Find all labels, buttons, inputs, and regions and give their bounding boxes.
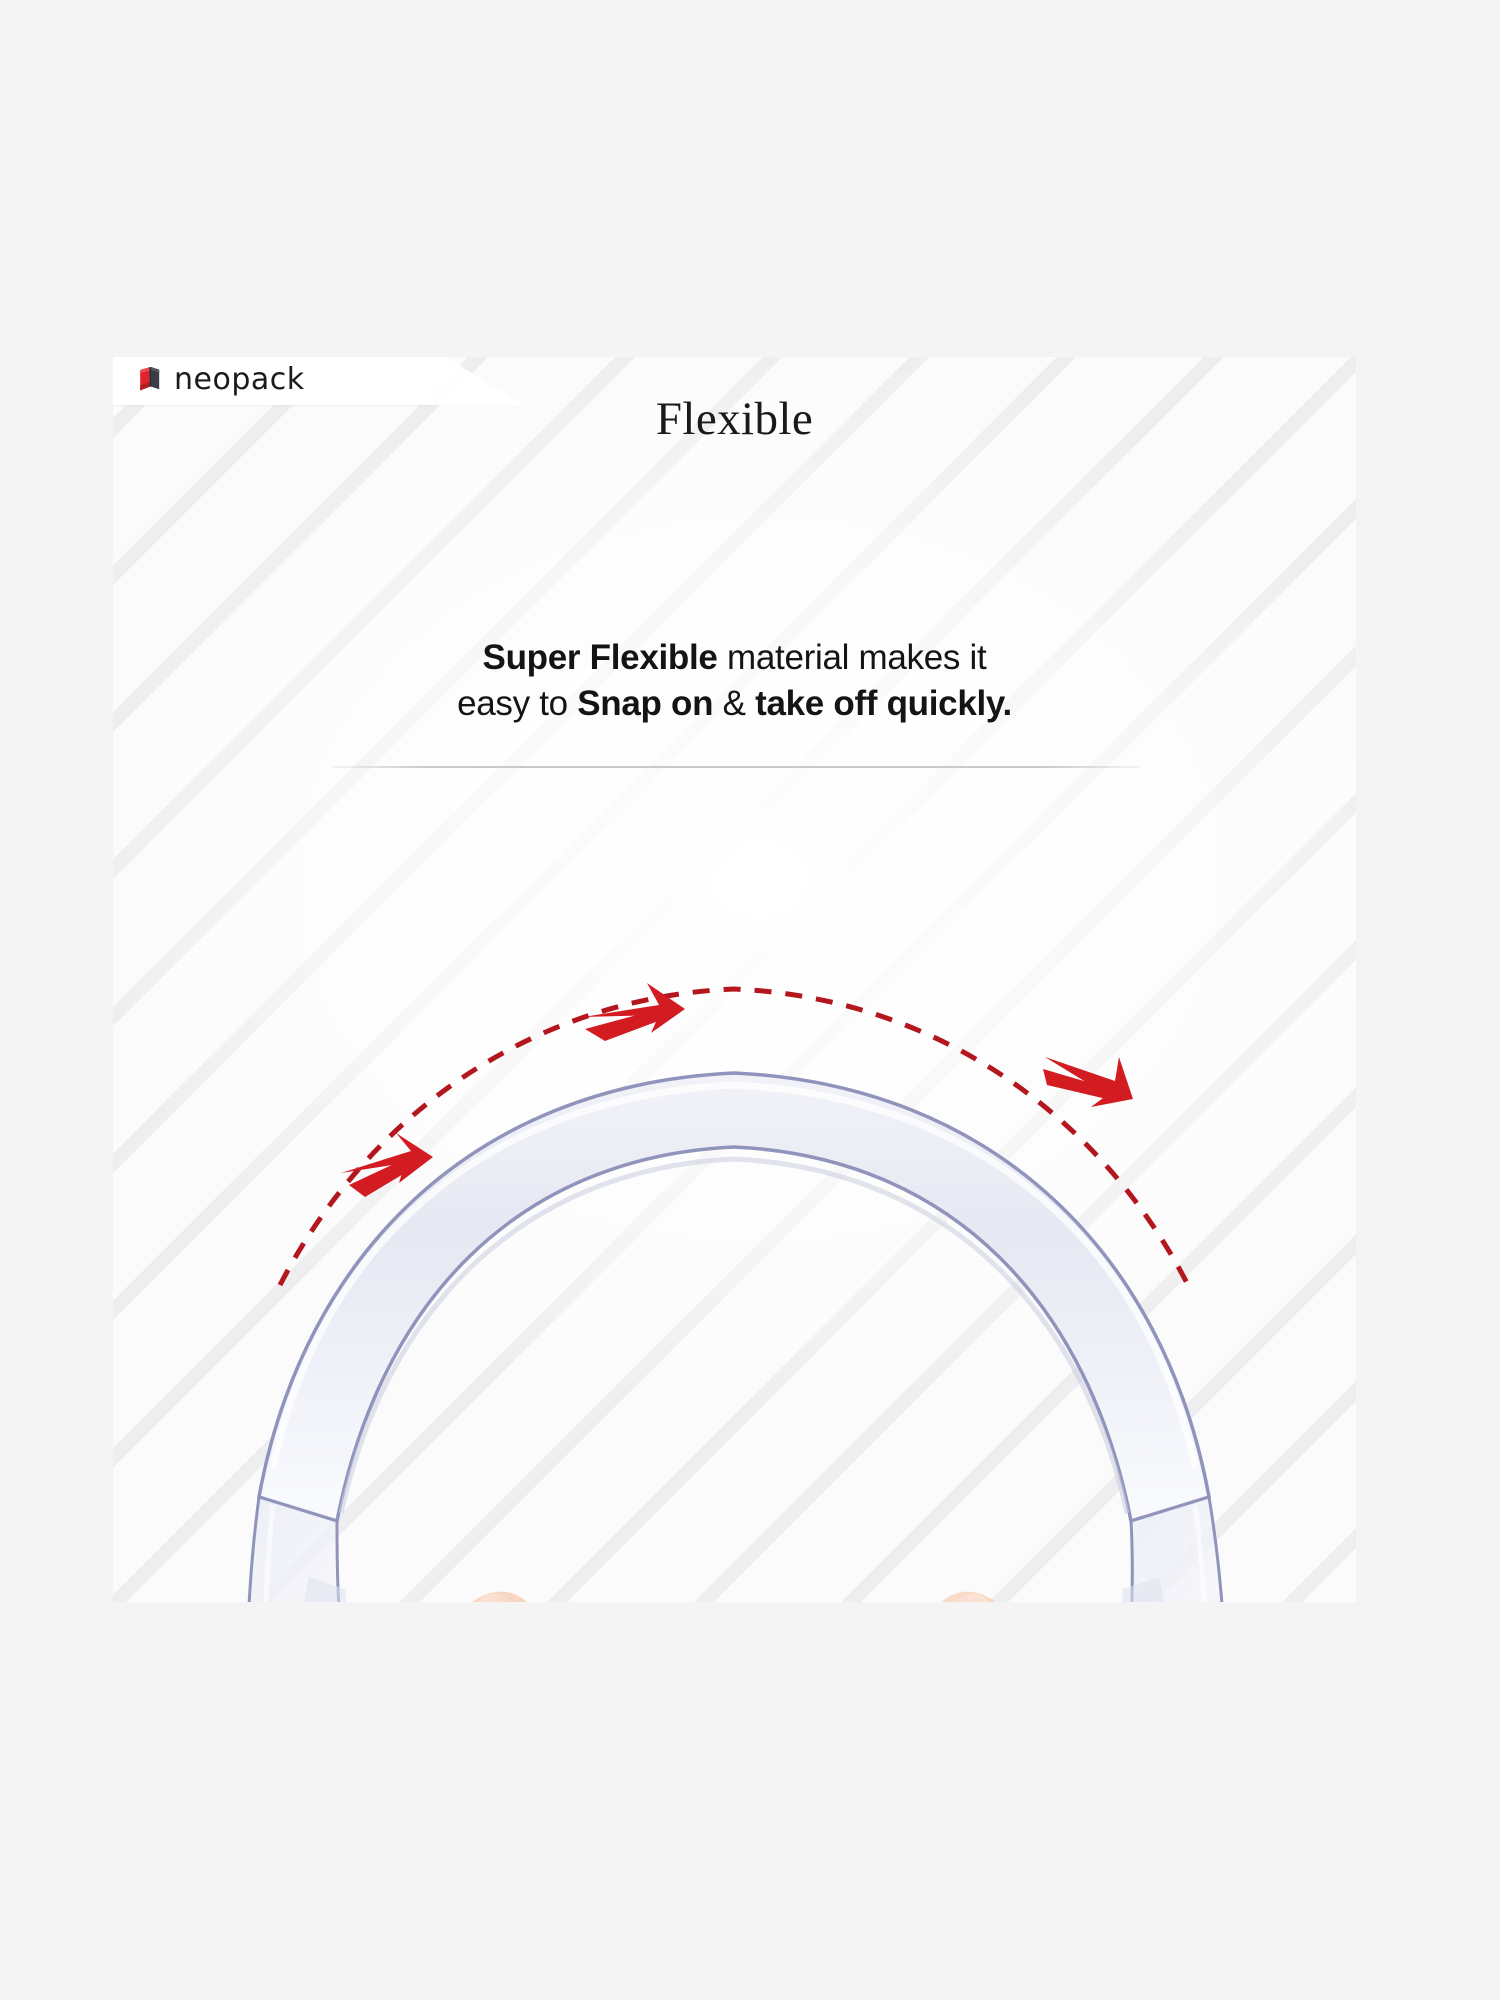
open-book-icon [137,365,167,395]
brand-wordmark: neopack [174,365,305,395]
product-feature-card: neopack Flexible Super Flexible material… [113,357,1356,1602]
hero-illustration [113,637,1356,1602]
case-edge-overlay [301,1577,1167,1602]
arrow-left [341,1133,433,1197]
brand-logo[interactable]: neopack [137,365,305,395]
arrow-right [1043,1057,1133,1107]
flexible-phone-case [248,1073,1226,1602]
hands-bending-case-illustration [113,637,1356,1602]
page-title: Flexible [113,392,1356,446]
arrow-top [583,983,685,1041]
